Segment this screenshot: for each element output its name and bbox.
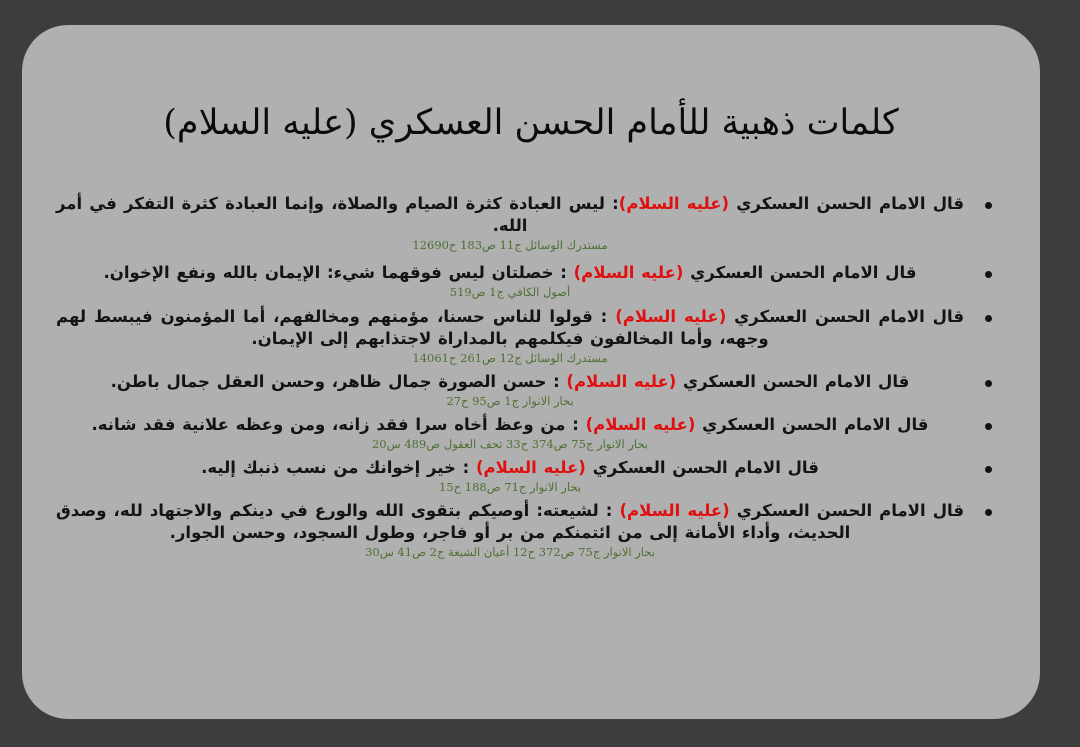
salutation-label: (عليه السلام) xyxy=(586,415,696,434)
quote-source: أصول الكافي ج1 ص519 xyxy=(56,285,964,299)
list-item: قال الامام الحسن العسكري (عليه السلام) :… xyxy=(56,262,1010,299)
bullet-icon xyxy=(985,423,992,430)
quote-text: : حسن الصورة جمال ظاهر، وحسن العقل جمال … xyxy=(111,372,567,391)
quote-lead: قال الامام الحسن العسكري xyxy=(729,194,964,213)
quote-lead: قال الامام الحسن العسكري xyxy=(726,307,964,326)
list-item: قال الامام الحسن العسكري (عليه السلام) :… xyxy=(56,414,1010,451)
quote-body: قال الامام الحسن العسكري (عليه السلام) :… xyxy=(56,306,964,350)
slide-panel: كلمات ذهبية للأمام الحسن العسكري (عليه ا… xyxy=(22,25,1040,719)
quote-body: قال الامام الحسن العسكري (عليه السلام) :… xyxy=(56,371,964,393)
quote-text: : خير إخوانك من نسب ذنبك إليه. xyxy=(201,458,476,477)
quote-lead: قال الامام الحسن العسكري xyxy=(676,372,909,391)
list-item: قال الامام الحسن العسكري (عليه السلام) :… xyxy=(56,500,1010,559)
list-item: قال الامام الحسن العسكري (عليه السلام) :… xyxy=(56,371,1010,408)
bullet-icon xyxy=(985,271,992,278)
quote-body: قال الامام الحسن العسكري (عليه السلام) :… xyxy=(56,457,964,479)
quote-text: : من وعظ أخاه سرا فقد زانه، ومن وعظه علا… xyxy=(92,415,586,434)
list-item: قال الامام الحسن العسكري (عليه السلام) :… xyxy=(56,306,1010,365)
quote-text: : خصلتان ليس فوقهما شيء: الإيمان بالله و… xyxy=(103,263,573,282)
salutation-label: (عليه السلام) xyxy=(476,458,586,477)
salutation-label: (عليه السلام) xyxy=(615,307,726,326)
quote-body: قال الامام الحسن العسكري (عليه السلام) :… xyxy=(56,414,964,436)
quote-source: بحار الانوار ج75 ص374 ح33 تحف العقول ص48… xyxy=(56,437,964,451)
quote-text: : ليس العبادة كثرة الصيام والصلاة، وإنما… xyxy=(56,194,619,235)
quote-lead: قال الامام الحسن العسكري xyxy=(695,415,928,434)
salutation-label: (عليه السلام) xyxy=(566,372,676,391)
bullet-icon xyxy=(985,466,992,473)
quote-source: بحار الانوار ج71 ص188 ح15 xyxy=(56,480,964,494)
quote-body: قال الامام الحسن العسكري (عليه السلام) :… xyxy=(56,262,964,284)
bullet-icon xyxy=(985,202,992,209)
quote-body: قال الامام الحسن العسكري (عليه السلام): … xyxy=(56,193,964,237)
quote-lead: قال الامام الحسن العسكري xyxy=(586,458,819,477)
salutation-label: (عليه السلام) xyxy=(619,194,729,213)
quote-source: بحار الانوار ج1 ص95 ح27 xyxy=(56,394,964,408)
quote-lead: قال الامام الحسن العسكري xyxy=(730,501,964,520)
quote-lead: قال الامام الحسن العسكري xyxy=(683,263,916,282)
page-title: كلمات ذهبية للأمام الحسن العسكري (عليه ا… xyxy=(22,103,1040,143)
quote-list: قال الامام الحسن العسكري (عليه السلام): … xyxy=(56,193,1010,559)
list-item: قال الامام الحسن العسكري (عليه السلام) :… xyxy=(56,457,1010,494)
bullet-icon xyxy=(985,509,992,516)
quote-source: بحار الانوار ج75 ص372 ح12 أعيان الشيعة ج… xyxy=(56,545,964,559)
list-item: قال الامام الحسن العسكري (عليه السلام): … xyxy=(56,193,1010,252)
salutation-label: (عليه السلام) xyxy=(574,263,684,282)
bullet-icon xyxy=(985,380,992,387)
quote-source: مستدرك الوسائل ج12 ص261 ح14061 xyxy=(56,351,964,365)
quote-source: مستدرك الوسائل ج11 ص183 ح12690 xyxy=(56,238,964,252)
quote-body: قال الامام الحسن العسكري (عليه السلام) :… xyxy=(56,500,964,544)
bullet-icon xyxy=(985,315,992,322)
salutation-label: (عليه السلام) xyxy=(619,501,729,520)
